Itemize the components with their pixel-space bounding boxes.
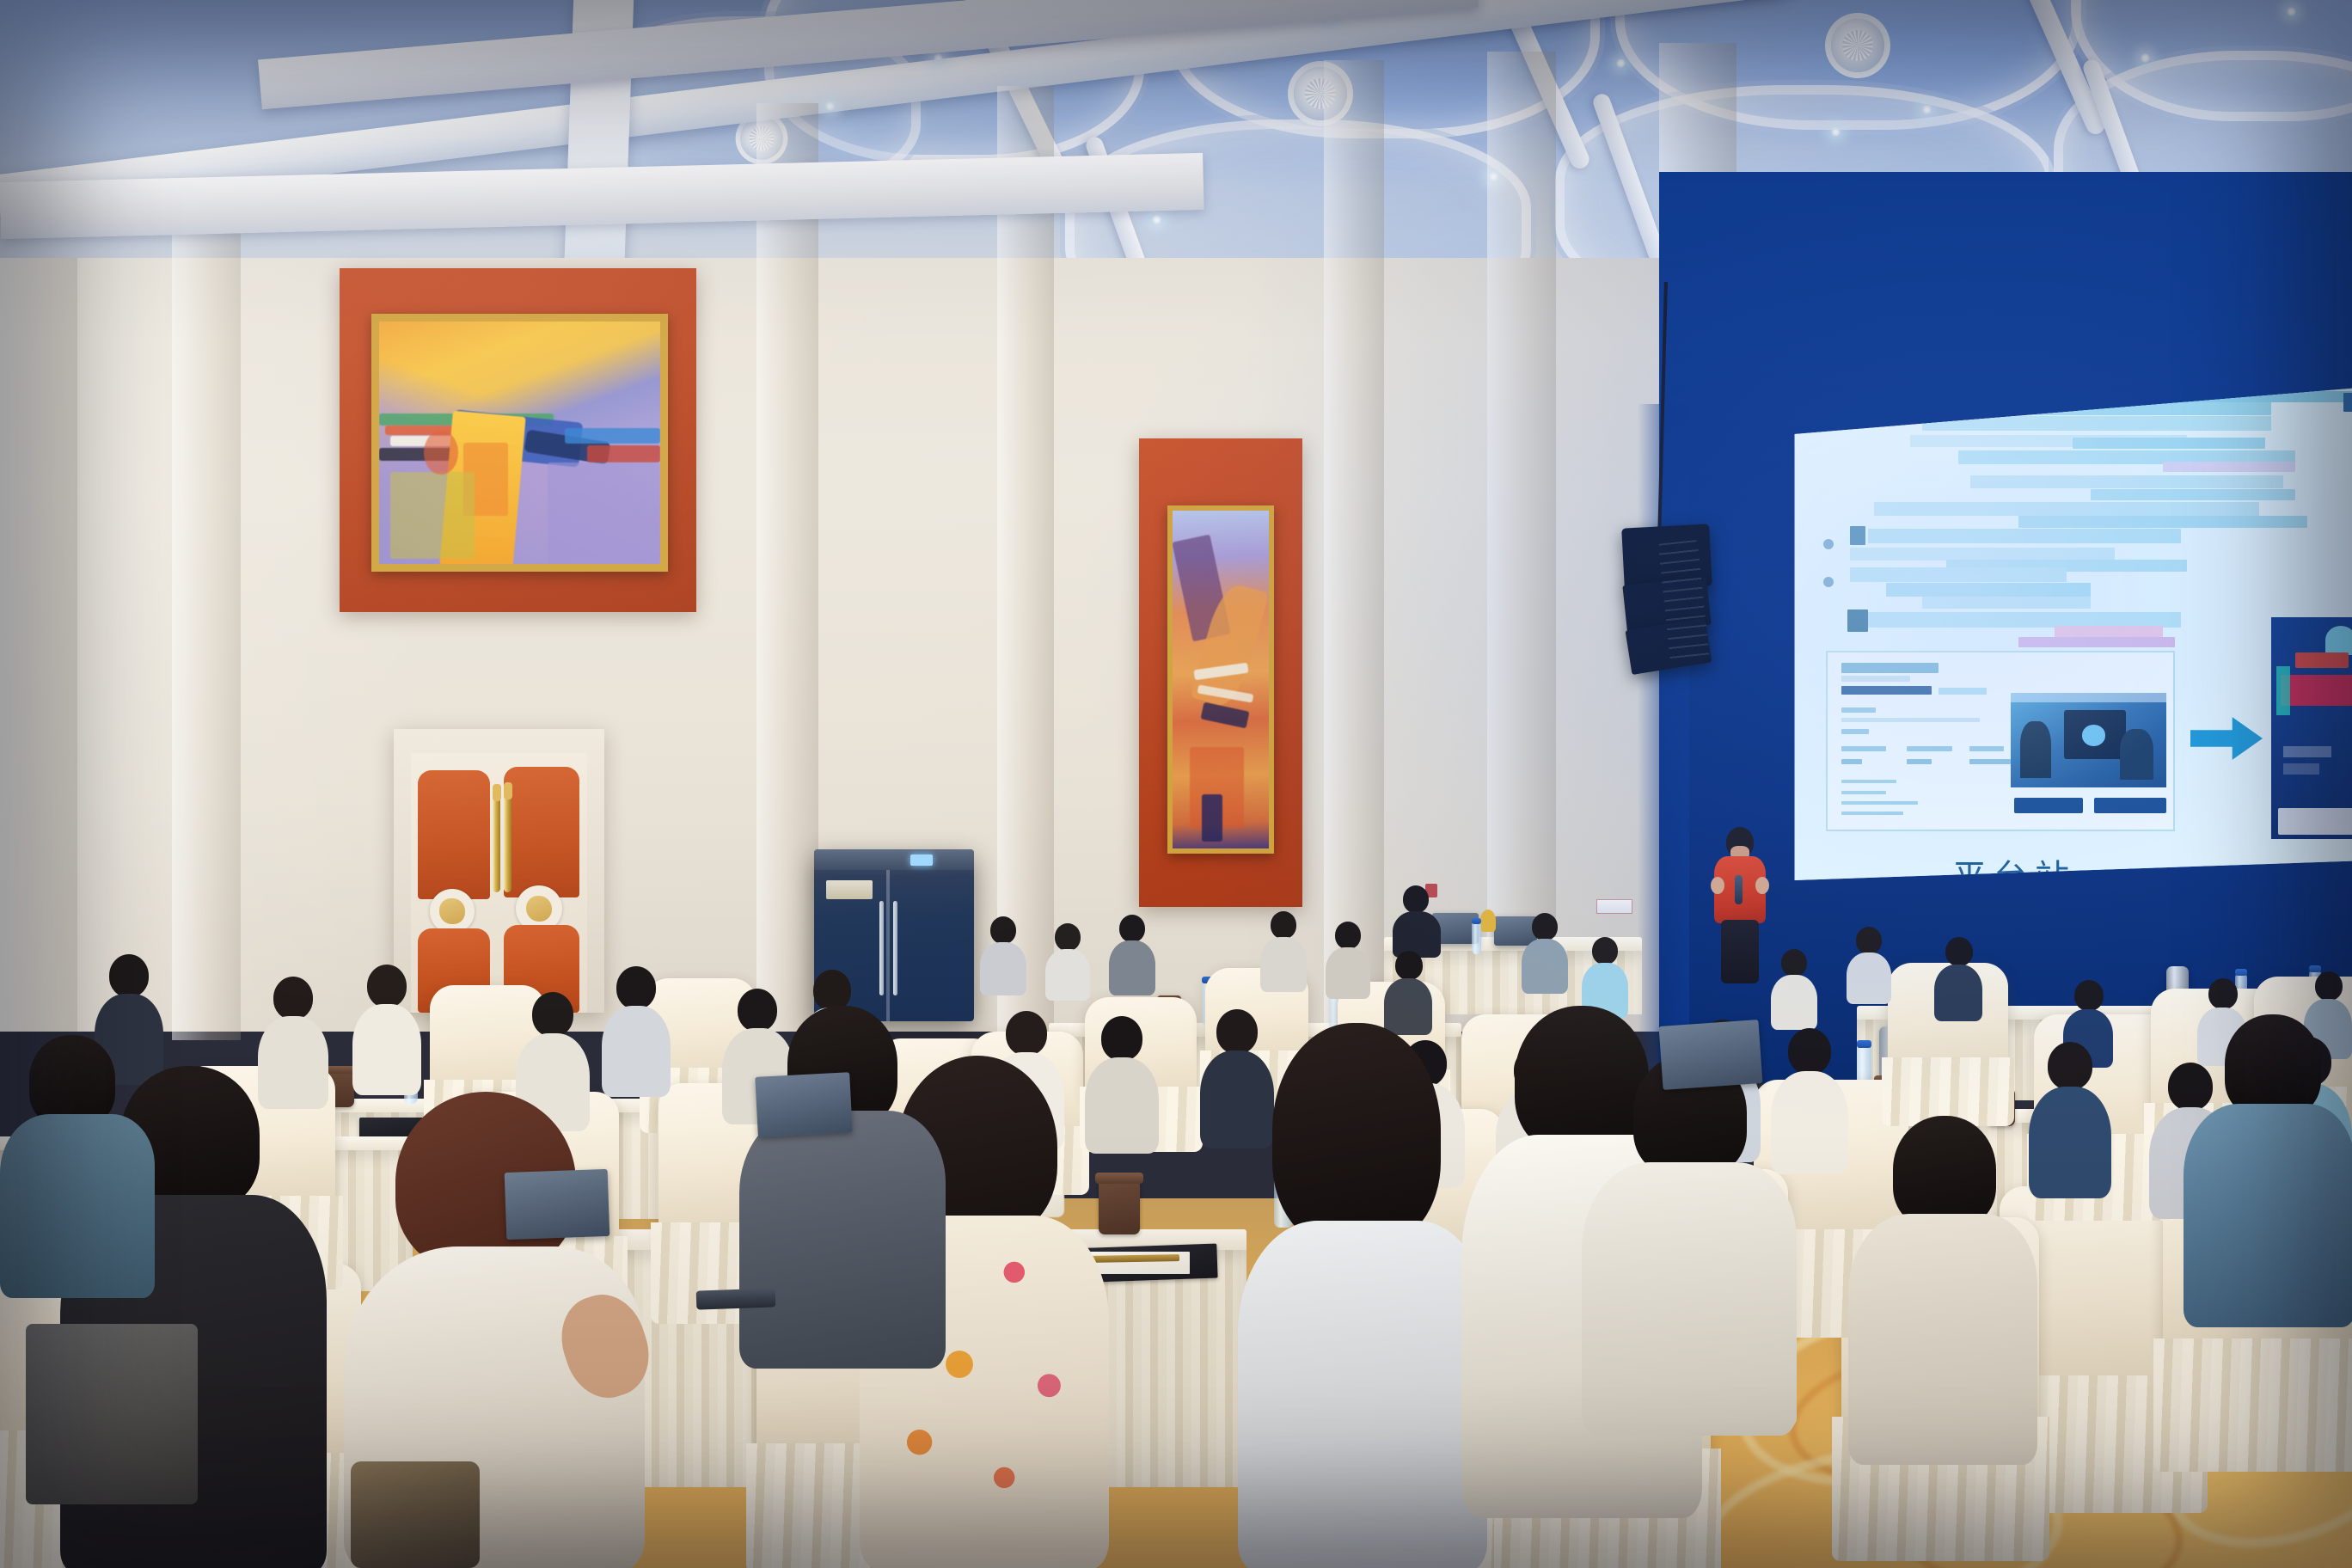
slide-mobile-panel bbox=[2271, 617, 2352, 839]
slide-screenshot-card bbox=[1826, 651, 2175, 831]
slide-line-leading-char bbox=[1847, 609, 1868, 632]
ceiling-rosette bbox=[1831, 19, 1884, 72]
ceiling-downlight bbox=[1616, 58, 1626, 68]
stage-backdrop-left-edge bbox=[1638, 404, 1689, 1083]
slide-card-button bbox=[2014, 798, 2083, 814]
wall-plaque-upper bbox=[1596, 899, 1632, 914]
attendee-mid-center bbox=[1582, 1054, 1797, 1432]
attendee-laptop[interactable] bbox=[755, 1072, 853, 1137]
av-technician bbox=[1393, 885, 1441, 954]
hair bbox=[1272, 1023, 1441, 1246]
attendee bbox=[1522, 913, 1568, 992]
ceiling-downlight bbox=[2141, 53, 2150, 63]
attendee bbox=[980, 916, 1026, 994]
ceiling-downlight bbox=[2287, 7, 2296, 16]
slide-card-photo bbox=[2011, 693, 2166, 787]
attendee-right-blue bbox=[2184, 1014, 2352, 1324]
door-handle[interactable] bbox=[504, 787, 511, 892]
water-bottle bbox=[1472, 922, 1481, 954]
attendee bbox=[1771, 949, 1817, 1028]
ceiling-downlight bbox=[1831, 127, 1841, 137]
presenter-microphone bbox=[1735, 875, 1743, 904]
torso bbox=[2184, 1104, 2352, 1327]
ceiling-downlight bbox=[934, 53, 943, 63]
ceiling-downlight bbox=[1922, 105, 1932, 114]
presenter bbox=[1709, 827, 1771, 982]
torso bbox=[739, 1111, 946, 1369]
attendee-right-cream bbox=[1848, 1116, 2037, 1460]
door-medallion bbox=[430, 889, 475, 934]
fridge-label bbox=[826, 880, 873, 899]
slide-content: 平台站 bbox=[1790, 385, 2352, 901]
attendee bbox=[1847, 927, 1891, 1002]
slide-card-button bbox=[2094, 798, 2166, 814]
door-handle[interactable] bbox=[493, 789, 500, 892]
projection-screen: 平台站 bbox=[1790, 385, 2352, 901]
slide-bullet-icon bbox=[1823, 539, 1834, 549]
ballroom-double-door[interactable] bbox=[411, 753, 587, 1013]
torso bbox=[1848, 1214, 2037, 1465]
attendee bbox=[602, 966, 671, 1095]
attendee-foreground-dark-hair bbox=[1238, 1023, 1487, 1568]
attendee-mid-left bbox=[739, 1006, 946, 1367]
scene-caption: Rear-view photograph of a business semin… bbox=[0, 0, 70, 1]
attendee bbox=[1384, 951, 1432, 1033]
torso bbox=[0, 1114, 155, 1298]
painting-landscape bbox=[371, 314, 668, 572]
torso bbox=[1238, 1221, 1487, 1568]
av-lamp-icon bbox=[1480, 910, 1496, 932]
attendee-left-blue-polo bbox=[0, 1035, 155, 1293]
head bbox=[29, 1035, 115, 1126]
torso bbox=[1582, 1162, 1797, 1436]
attendee bbox=[352, 965, 421, 1093]
attendee-laptop[interactable] bbox=[1659, 1020, 1763, 1090]
attendee bbox=[1109, 915, 1155, 994]
presenter-skirt bbox=[1721, 920, 1759, 983]
backpack bbox=[26, 1324, 198, 1504]
head bbox=[1893, 1116, 1996, 1228]
smartphone[interactable] bbox=[696, 1288, 776, 1309]
slide-bullet-icon bbox=[1823, 577, 1834, 587]
conference-hall-photo: 平台站 bbox=[0, 0, 2352, 1568]
attendee bbox=[1582, 937, 1628, 1016]
attendee bbox=[1326, 922, 1370, 997]
fridge-display bbox=[910, 854, 933, 866]
attendee bbox=[1934, 937, 1982, 1020]
attendee-laptop[interactable] bbox=[505, 1169, 610, 1240]
ceiling-downlight bbox=[825, 101, 835, 111]
slide-bullet-1-leading-char bbox=[1850, 526, 1865, 545]
attendee bbox=[1045, 923, 1090, 999]
attendee bbox=[1260, 911, 1307, 990]
slide-arrow-icon bbox=[2190, 715, 2263, 762]
head bbox=[2225, 1014, 2321, 1118]
handbag bbox=[351, 1461, 480, 1568]
ceiling-downlight bbox=[1152, 215, 1161, 224]
painting-portrait bbox=[1167, 505, 1274, 854]
attendee bbox=[2029, 1042, 2111, 1197]
